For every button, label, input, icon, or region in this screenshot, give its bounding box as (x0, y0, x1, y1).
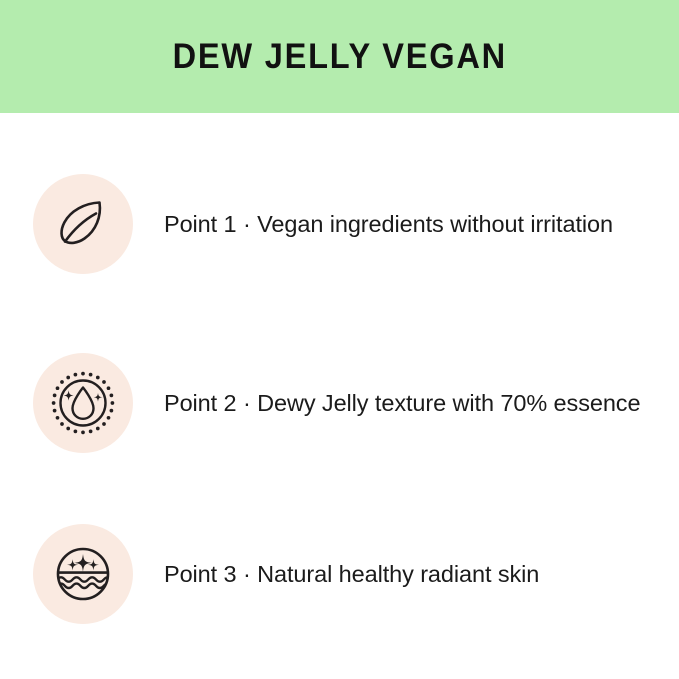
feature-icon-badge (33, 174, 133, 274)
water-droplet-sparkle-icon (50, 370, 116, 436)
promo-page: DEW JELLY VEGAN Point 1 · Vegan ingredie… (0, 0, 679, 679)
radiant-skin-icon (51, 542, 115, 606)
page-title: DEW JELLY VEGAN (172, 39, 506, 74)
feature-list: Point 1 · Vegan ingredients without irri… (0, 113, 679, 679)
list-item: Point 3 · Natural healthy radiant skin (0, 524, 679, 624)
feature-text: Point 1 · Vegan ingredients without irri… (164, 174, 613, 274)
list-item: Point 2 · Dewy Jelly texture with 70% es… (0, 353, 679, 453)
feature-icon-badge (33, 353, 133, 453)
feature-text: Point 3 · Natural healthy radiant skin (164, 524, 539, 624)
header-banner: DEW JELLY VEGAN (0, 0, 679, 113)
feature-icon-badge (33, 524, 133, 624)
leaf-icon (51, 192, 115, 256)
feature-text: Point 2 · Dewy Jelly texture with 70% es… (164, 353, 640, 453)
list-item: Point 1 · Vegan ingredients without irri… (0, 174, 679, 274)
